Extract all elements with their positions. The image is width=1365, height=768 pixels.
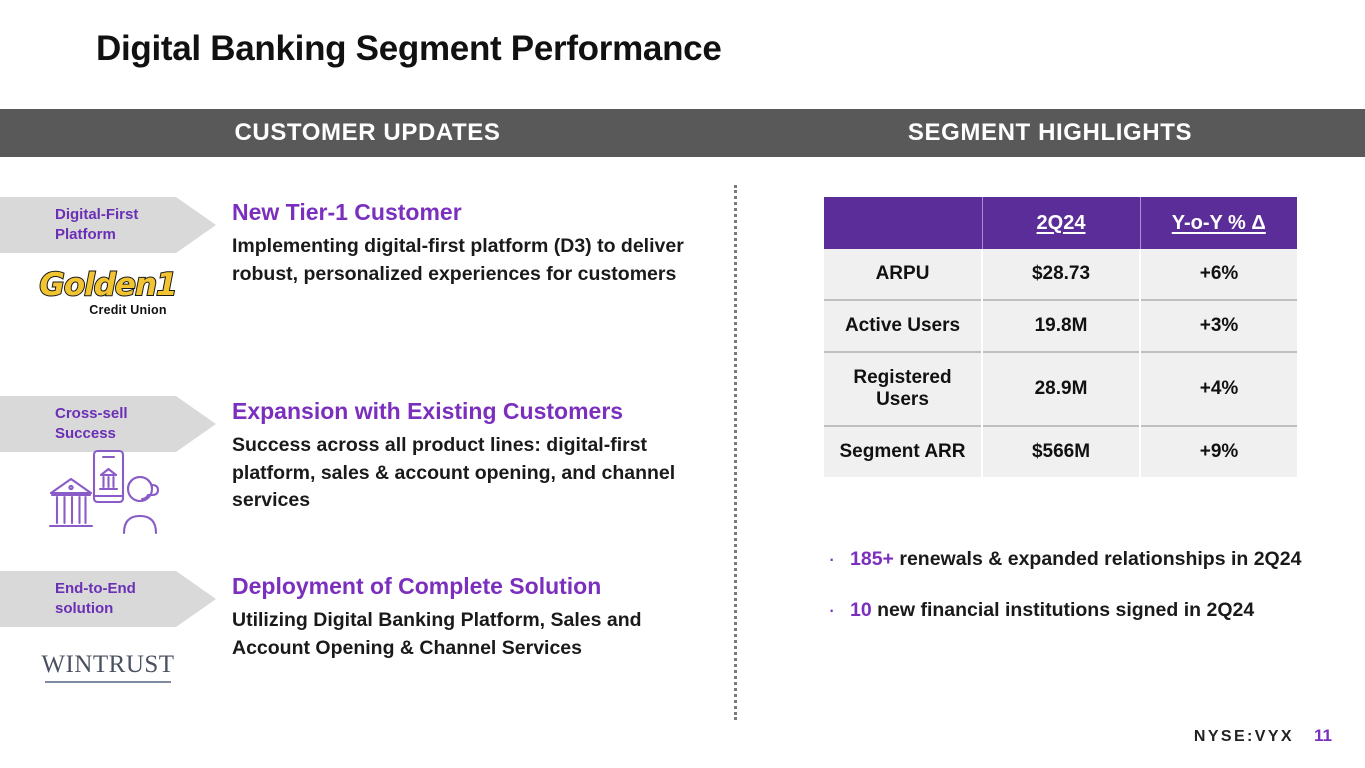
bullet-highlight: 185+ [850,548,894,570]
chevron-tag-line-2: Platform [0,225,216,245]
metric-value: 28.9M [982,352,1140,426]
customer-update-heading: Deployment of Complete Solution [232,571,702,601]
chevron-tag-line-1: End-to-End [0,579,216,599]
table-row: Active Users 19.8M +3% [824,300,1297,352]
section-band: CUSTOMER UPDATES SEGMENT HIGHLIGHTS [0,109,1365,157]
table-row: Registered Users 28.9M +4% [824,352,1297,426]
golden1-subtitle: Credit Union [39,304,176,317]
customer-update-body: Implementing digital-first platform (D3)… [232,233,702,288]
golden1-logo: Golden1 Credit Union [0,253,216,333]
bullet-rest: new financial institutions signed in 2Q2… [872,599,1254,621]
metric-yoy: +4% [1140,352,1297,426]
customer-update-text: New Tier-1 Customer Implementing digital… [232,197,702,288]
chevron-tag-cross-sell-success: Cross-sell Success [0,396,216,452]
omnichannel-banking-glyph [46,449,170,535]
column-header-yoy: Y-o-Y % Δ [1140,197,1297,249]
metric-value: 19.8M [982,300,1140,352]
table-row: Segment ARR $566M +9% [824,426,1297,477]
bullet-dot-icon: · [824,596,850,624]
segment-metrics-table: 2Q24 Y-o-Y % Δ ARPU $28.73 +6% Active Us… [824,197,1297,477]
column-header-2q24: 2Q24 [982,197,1140,249]
bullet-highlight: 10 [850,599,872,621]
column-header-metric [824,197,982,249]
page-title: Digital Banking Segment Performance [96,27,721,71]
metric-value: $28.73 [982,249,1140,300]
metric-label: ARPU [824,249,982,300]
customer-update-text: Expansion with Existing Customers Succes… [232,396,702,515]
omnichannel-banking-icon [0,452,216,532]
list-item: · 10 new financial institutions signed i… [824,596,1314,624]
slide-footer: NYSE:VYX 11 [1194,726,1332,746]
chevron-tag-line-1: Cross-sell [0,404,216,424]
customer-update-heading: New Tier-1 Customer [232,197,702,227]
metric-label: Segment ARR [824,426,982,477]
page-number: 11 [1314,726,1332,746]
chevron-tag-line-2: solution [0,599,216,619]
section-header-customer-updates: CUSTOMER UPDATES [0,109,735,157]
chevron-tag-line-1: Digital-First [0,205,216,225]
customer-update-body: Success across all product lines: digita… [232,432,702,515]
bullet-dot-icon: · [824,545,850,573]
bullet-rest: renewals & expanded relationships in 2Q2… [894,548,1301,570]
customer-update-text: Deployment of Complete Solution Utilizin… [232,571,702,662]
metric-value: $566M [982,426,1140,477]
metric-label: Registered Users [824,352,982,426]
metric-label: Active Users [824,300,982,352]
golden1-wordmark: Golden1 [39,270,176,301]
section-header-segment-highlights: SEGMENT HIGHLIGHTS [735,109,1365,157]
wintrust-wordmark: WINTRUST [41,651,174,679]
table-header-row: 2Q24 Y-o-Y % Δ [824,197,1297,249]
chevron-tag-end-to-end-solution: End-to-End solution [0,571,216,627]
list-item: · 185+ renewals & expanded relationships… [824,545,1314,573]
customer-update-body: Utilizing Digital Banking Platform, Sale… [232,607,702,662]
wintrust-underline [45,681,171,683]
table-row: ARPU $28.73 +6% [824,249,1297,300]
customer-update-heading: Expansion with Existing Customers [232,396,702,426]
metric-yoy: +9% [1140,426,1297,477]
wintrust-logo: WINTRUST [0,627,216,707]
customer-updates-column: Digital-First Platform Golden1 Credit Un… [0,157,735,768]
highlight-bullet-list: · 185+ renewals & expanded relationships… [824,545,1314,647]
slide: Digital Banking Segment Performance CUST… [0,0,1365,768]
segment-highlights-column: 2Q24 Y-o-Y % Δ ARPU $28.73 +6% Active Us… [735,157,1365,768]
bullet-text: 10 new financial institutions signed in … [850,596,1254,624]
stock-ticker: NYSE:VYX [1194,728,1294,746]
chevron-tag-line-2: Success [0,424,216,444]
metric-yoy: +3% [1140,300,1297,352]
chevron-tag-digital-first-platform: Digital-First Platform [0,197,216,253]
bullet-text: 185+ renewals & expanded relationships i… [850,545,1301,573]
metric-yoy: +6% [1140,249,1297,300]
